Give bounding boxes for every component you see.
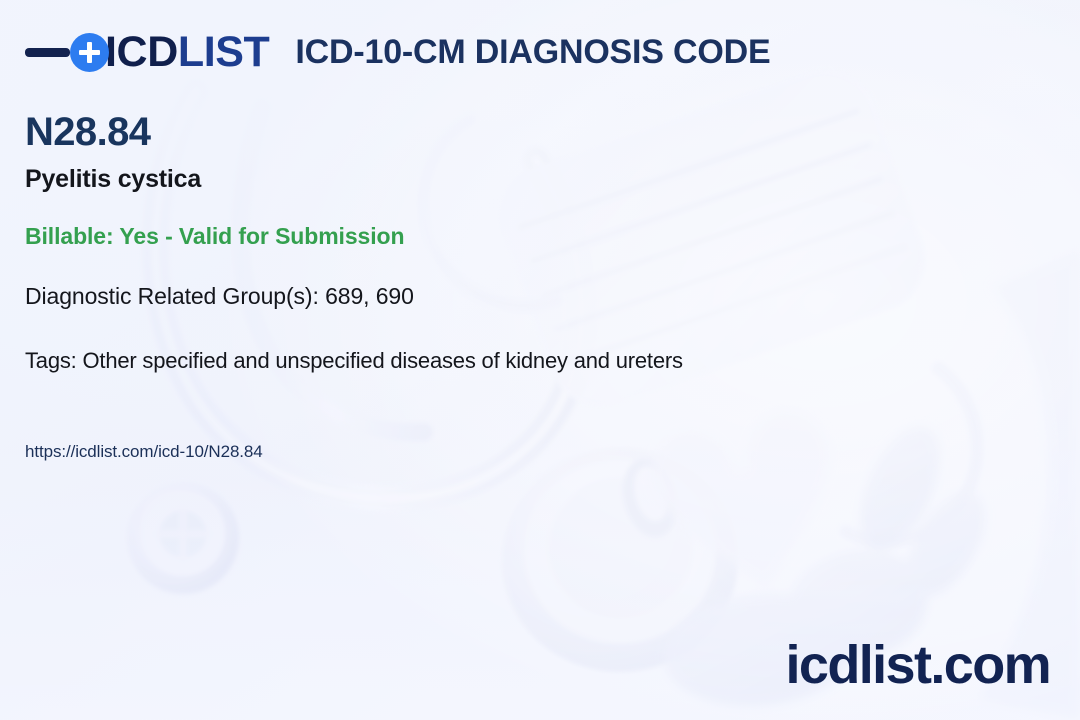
tags-line: Tags: Other specified and unspecified di… (25, 348, 683, 374)
diagnosis-code: N28.84 (25, 110, 150, 154)
icdlist-logo[interactable]: ICDLIST (25, 26, 269, 78)
logo-word-icd: ICD (105, 28, 178, 76)
source-url-link[interactable]: https://icdlist.com/icd-10/N28.84 (25, 442, 263, 462)
billable-status-badge: Billable: Yes - Valid for Submission (25, 223, 404, 251)
drg-line: Diagnostic Related Group(s): 689, 690 (25, 283, 414, 311)
page-content: ICDLIST ICD-10-CM DIAGNOSIS CODE N28.84 … (0, 0, 1080, 720)
plus-badge-icon (70, 33, 109, 72)
footer-brand: icdlist.com (786, 638, 1050, 692)
logo-wordmark: ICDLIST (105, 31, 269, 74)
dash-icon (25, 48, 70, 57)
diagnosis-description: Pyelitis cystica (25, 164, 201, 194)
page-title: ICD-10-CM DIAGNOSIS CODE (295, 35, 770, 69)
plus-vertical-bar (87, 42, 92, 63)
logo-word-list: LIST (178, 28, 270, 76)
header: ICDLIST ICD-10-CM DIAGNOSIS CODE (25, 26, 770, 78)
